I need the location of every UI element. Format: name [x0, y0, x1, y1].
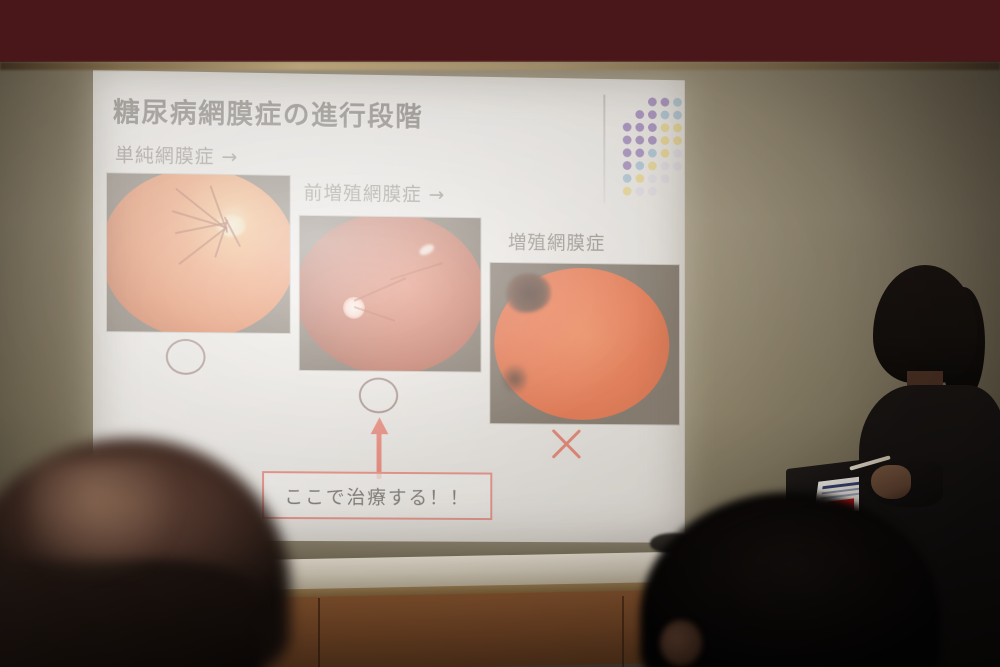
logo-dot [648, 187, 657, 196]
logo-dot [623, 187, 632, 196]
cabinet-seam [318, 598, 320, 667]
slide-title: 糖尿病網膜症の進行段階 [113, 90, 423, 134]
logo-dot [623, 161, 632, 170]
hemorrhage-area [502, 362, 527, 396]
screenshot-root: 糖尿病網膜症の進行段階 単純網膜症 → 前増殖網膜症 → 増殖網膜症 [0, 0, 1000, 667]
cabinet-seam [622, 596, 624, 667]
audience-member-foreground-right-ear [660, 620, 702, 666]
logo-dot [661, 110, 670, 119]
logo-dot [661, 136, 670, 145]
logo-dot [673, 162, 682, 171]
logo-dot [648, 149, 657, 158]
fundus-disc [300, 216, 481, 372]
logo-dot [648, 97, 657, 106]
fundus-disc [107, 173, 290, 333]
logo-dot [623, 135, 632, 144]
presenter-hand [871, 465, 911, 499]
logo-dot [648, 123, 657, 132]
logo-dot [648, 174, 657, 183]
logo-dot [635, 187, 644, 196]
hemorrhage-area [505, 273, 550, 313]
logo-dot [635, 110, 644, 119]
logo-dot [623, 148, 632, 157]
logo-dot [661, 98, 670, 107]
logo-dot [661, 162, 670, 171]
stage-label-preproliferative: 前増殖網膜症 → [304, 178, 446, 207]
presenter-hair [873, 265, 977, 383]
treatment-callout-box: ここで治療する！！ [262, 471, 492, 520]
stage-label-simple: 単純網膜症 → [115, 140, 238, 169]
logo-dot [648, 110, 657, 119]
audience-member-foreground-left-highlight [30, 460, 190, 570]
red-up-arrow-icon [371, 417, 389, 479]
header-underline [0, 62, 1000, 70]
header-banner [0, 0, 1000, 62]
logo-dot [661, 149, 670, 158]
stage-label-proliferative: 増殖網膜症 [508, 228, 605, 256]
logo-dot [661, 174, 670, 183]
logo-dot [635, 161, 644, 170]
fundus-photo-simple-retinopathy [107, 173, 290, 333]
circle-mark-simple [166, 339, 206, 375]
logo-dot [623, 123, 632, 132]
fundus-photo-preproliferative-retinopathy [300, 216, 481, 372]
callout-text: ここで治療する！！ [284, 482, 470, 510]
logo-dot [673, 136, 682, 145]
logo-dot [673, 123, 682, 132]
logo-dot [635, 136, 644, 145]
logo-dot [635, 174, 644, 183]
logo-dot [648, 161, 657, 170]
logo-dot [648, 136, 657, 145]
audience-member-foreground-left-body [0, 560, 260, 667]
logo-dot [673, 98, 682, 107]
dot-matrix-logo [623, 97, 691, 200]
logo-dot [673, 149, 682, 158]
logo-dot [673, 111, 682, 120]
logo-dot [661, 123, 670, 132]
logo-dot [635, 123, 644, 132]
logo-vertical-rule [603, 95, 605, 203]
cross-mark-proliferative [547, 424, 586, 464]
fundus-photo-proliferative-retinopathy [490, 263, 679, 425]
logo-dot [623, 174, 632, 183]
logo-dot [635, 148, 644, 157]
circle-mark-preproliferative [359, 377, 398, 413]
